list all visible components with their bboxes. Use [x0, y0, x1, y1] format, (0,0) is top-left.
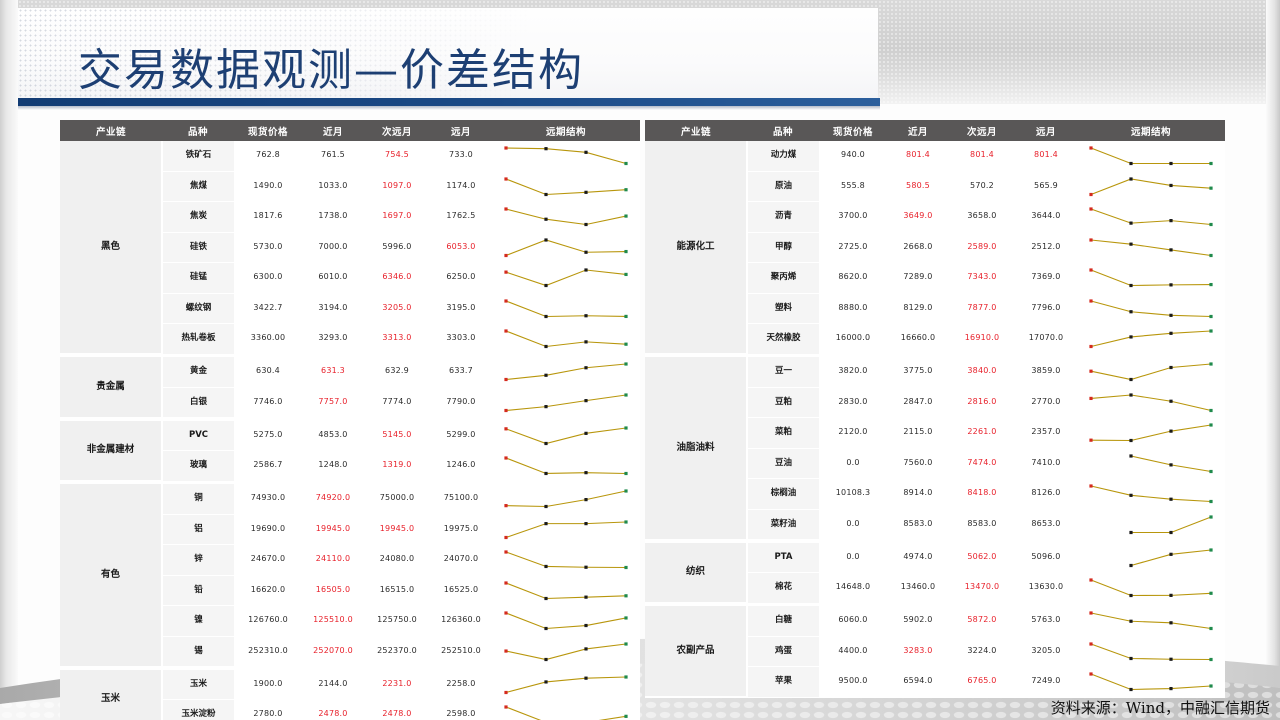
cell-mid-price: 2231.0 — [364, 670, 430, 700]
cell-far-price: 633.7 — [430, 357, 492, 387]
forward-curve-sparkline — [1077, 324, 1225, 355]
cell-spot-price: 0.0 — [819, 509, 887, 540]
cell-variety: 菜粕 — [747, 418, 819, 449]
table-row: 黑色铁矿石762.8761.5754.5733.0 — [60, 141, 640, 171]
forward-curve-sparkline — [492, 484, 640, 514]
cell-industry-chain: 能源化工 — [645, 141, 747, 354]
cell-spot-price: 16620.0 — [234, 575, 302, 606]
cell-mid-price: 5996.0 — [364, 232, 430, 263]
col-header-far[interactable]: 远月 — [1015, 120, 1077, 141]
cell-mid-price: 3205.0 — [364, 293, 430, 324]
cell-mid-price: 3840.0 — [949, 357, 1015, 387]
cell-spot-price: 555.8 — [819, 171, 887, 202]
cell-variety: 镍 — [162, 606, 234, 637]
cell-spot-price: 74930.0 — [234, 484, 302, 514]
cell-far-price: 3205.0 — [1015, 636, 1077, 667]
forward-curve-sparkline — [492, 202, 640, 233]
cell-variety: 苹果 — [747, 667, 819, 698]
cell-variety: 天然橡胶 — [747, 324, 819, 355]
cell-spot-price: 3820.0 — [819, 357, 887, 387]
cell-mid-price: 2816.0 — [949, 387, 1015, 418]
cell-variety: 玉米 — [162, 670, 234, 700]
cell-far-price: 3303.0 — [430, 324, 492, 355]
forward-curve-sparkline — [492, 141, 640, 171]
forward-curve-sparkline — [1077, 202, 1225, 233]
cell-mid-price: 13470.0 — [949, 573, 1015, 604]
cell-variety: 鸡蛋 — [747, 636, 819, 667]
cell-spot-price: 940.0 — [819, 141, 887, 171]
cell-mid-price: 801.4 — [949, 141, 1015, 171]
forward-curve-sparkline — [1077, 293, 1225, 324]
cell-industry-chain: 有色 — [60, 484, 162, 667]
cell-mid-price: 7774.0 — [364, 387, 430, 418]
cell-far-price: 1246.0 — [430, 451, 492, 482]
cell-near-price: 8129.0 — [887, 293, 949, 324]
cell-industry-chain: 玉米 — [60, 670, 162, 720]
cell-near-price: 631.3 — [302, 357, 364, 387]
cell-spot-price: 2725.0 — [819, 232, 887, 263]
cell-far-price: 126360.0 — [430, 606, 492, 637]
cell-variety: 豆油 — [747, 448, 819, 479]
cell-mid-price: 7343.0 — [949, 263, 1015, 294]
cell-far-price: 5299.0 — [430, 421, 492, 451]
cell-variety: PTA — [747, 543, 819, 573]
forward-curve-sparkline — [1077, 573, 1225, 604]
cell-mid-price: 16515.0 — [364, 575, 430, 606]
cell-mid-price: 7877.0 — [949, 293, 1015, 324]
table-row: 油脂油料豆一3820.03775.03840.03859.0 — [645, 357, 1225, 387]
cell-near-price: 1738.0 — [302, 202, 364, 233]
cell-variety: 螺纹钢 — [162, 293, 234, 324]
cell-mid-price: 632.9 — [364, 357, 430, 387]
cell-variety: 焦煤 — [162, 171, 234, 202]
col-header-spot[interactable]: 现货价格 — [234, 120, 302, 141]
cell-spot-price: 1817.6 — [234, 202, 302, 233]
cell-variety: 玉米淀粉 — [162, 700, 234, 720]
forward-curve-sparkline — [492, 421, 640, 451]
cell-variety: 沥青 — [747, 202, 819, 233]
cell-spot-price: 1900.0 — [234, 670, 302, 700]
cell-industry-chain: 非金属建材 — [60, 421, 162, 482]
cell-far-price: 24070.0 — [430, 545, 492, 576]
cell-spot-price: 0.0 — [819, 543, 887, 573]
cell-near-price: 1248.0 — [302, 451, 364, 482]
cell-spot-price: 16000.0 — [819, 324, 887, 355]
cell-spot-price: 630.4 — [234, 357, 302, 387]
table-right-body: 能源化工动力煤940.0801.4801.4801.4原油555.8580.55… — [645, 141, 1225, 697]
col-header-chain[interactable]: 产业链 — [60, 120, 162, 141]
cell-mid-price: 5872.0 — [949, 606, 1015, 636]
cell-variety: 铜 — [162, 484, 234, 514]
title-accent-shadow — [18, 106, 880, 110]
forward-curve-sparkline — [492, 545, 640, 576]
cell-mid-price: 2478.0 — [364, 700, 430, 720]
cell-mid-price: 6765.0 — [949, 667, 1015, 698]
cell-far-price: 1174.0 — [430, 171, 492, 202]
cell-far-price: 2357.0 — [1015, 418, 1077, 449]
cell-near-price: 6010.0 — [302, 263, 364, 294]
cell-mid-price: 2589.0 — [949, 232, 1015, 263]
cell-far-price: 8653.0 — [1015, 509, 1077, 540]
cell-spot-price: 4400.0 — [819, 636, 887, 667]
cell-near-price: 7000.0 — [302, 232, 364, 263]
col-header-mid[interactable]: 次远月 — [949, 120, 1015, 141]
cell-near-price: 252070.0 — [302, 636, 364, 667]
cell-variety: 铁矿石 — [162, 141, 234, 171]
table-right-head: 产业链 品种 现货价格 近月 次远月 远月 远期结构 — [645, 120, 1225, 141]
cell-far-price: 252510.0 — [430, 636, 492, 667]
cell-spot-price: 10108.3 — [819, 479, 887, 510]
forward-curve-sparkline — [492, 357, 640, 387]
forward-curve-sparkline — [492, 232, 640, 263]
price-structure-table-left: 产业链 品种 现货价格 近月 次远月 远月 远期结构 黑色铁矿石762.8761… — [60, 120, 640, 720]
cell-far-price: 7790.0 — [430, 387, 492, 418]
forward-curve-sparkline — [1077, 171, 1225, 202]
cell-variety: 热轧卷板 — [162, 324, 234, 355]
col-header-near[interactable]: 近月 — [887, 120, 949, 141]
cell-variety: 甲醇 — [747, 232, 819, 263]
cell-near-price: 3293.0 — [302, 324, 364, 355]
cell-variety: 锌 — [162, 545, 234, 576]
table-row: 农副产品白糖6060.05902.05872.05763.0 — [645, 606, 1225, 636]
cell-spot-price: 0.0 — [819, 448, 887, 479]
cell-variety: 豆一 — [747, 357, 819, 387]
cell-spot-price: 3360.00 — [234, 324, 302, 355]
forward-curve-sparkline — [1077, 636, 1225, 667]
table-row: 玉米玉米1900.02144.02231.02258.0 — [60, 670, 640, 700]
cell-variety: 硅锰 — [162, 263, 234, 294]
cell-industry-chain: 油脂油料 — [645, 357, 747, 540]
forward-curve-sparkline — [492, 263, 640, 294]
cell-near-price: 16505.0 — [302, 575, 364, 606]
cell-far-price: 1762.5 — [430, 202, 492, 233]
cell-near-price: 7560.0 — [887, 448, 949, 479]
price-structure-table-right: 产业链 品种 现货价格 近月 次远月 远月 远期结构 能源化工动力煤940.08… — [645, 120, 1220, 698]
cell-near-price: 16660.0 — [887, 324, 949, 355]
cell-spot-price: 252310.0 — [234, 636, 302, 667]
col-header-chain[interactable]: 产业链 — [645, 120, 747, 141]
cell-spot-price: 1490.0 — [234, 171, 302, 202]
cell-spot-price: 5730.0 — [234, 232, 302, 263]
cell-mid-price: 252370.0 — [364, 636, 430, 667]
col-header-mid[interactable]: 次远月 — [364, 120, 430, 141]
cell-near-price: 3194.0 — [302, 293, 364, 324]
cell-near-price: 6594.0 — [887, 667, 949, 698]
cell-spot-price: 3422.7 — [234, 293, 302, 324]
cell-far-price: 5096.0 — [1015, 543, 1077, 573]
cell-far-price: 19975.0 — [430, 514, 492, 545]
cell-variety: 硅铁 — [162, 232, 234, 263]
forward-curve-sparkline — [492, 606, 640, 637]
title-accent-bar — [18, 98, 880, 106]
cell-near-price: 580.5 — [887, 171, 949, 202]
cell-near-price: 2847.0 — [887, 387, 949, 418]
header-row: 产业链 品种 现货价格 近月 次远月 远月 远期结构 — [645, 120, 1225, 141]
col-header-near[interactable]: 近月 — [302, 120, 364, 141]
col-header-variety[interactable]: 品种 — [162, 120, 234, 141]
cell-far-price: 2598.0 — [430, 700, 492, 720]
table-row: 纺织PTA0.04974.05062.05096.0 — [645, 543, 1225, 573]
cell-near-price: 7289.0 — [887, 263, 949, 294]
cell-spot-price: 3700.0 — [819, 202, 887, 233]
cell-mid-price: 3658.0 — [949, 202, 1015, 233]
cell-near-price: 2144.0 — [302, 670, 364, 700]
cell-mid-price: 75000.0 — [364, 484, 430, 514]
cell-near-price: 3283.0 — [887, 636, 949, 667]
forward-curve-sparkline — [492, 636, 640, 667]
cell-near-price: 4974.0 — [887, 543, 949, 573]
cell-near-price: 8914.0 — [887, 479, 949, 510]
col-header-variety[interactable]: 品种 — [747, 120, 819, 141]
cell-spot-price: 8620.0 — [819, 263, 887, 294]
forward-curve-sparkline — [1077, 606, 1225, 636]
cell-spot-price: 5275.0 — [234, 421, 302, 451]
table-row: 非金属建材PVC5275.04853.05145.05299.0 — [60, 421, 640, 451]
forward-curve-sparkline — [1077, 387, 1225, 418]
cell-near-price: 74920.0 — [302, 484, 364, 514]
forward-curve-sparkline — [1077, 357, 1225, 387]
cell-mid-price: 8583.0 — [949, 509, 1015, 540]
cell-near-price: 3775.0 — [887, 357, 949, 387]
cell-far-price: 3859.0 — [1015, 357, 1077, 387]
cell-industry-chain: 农副产品 — [645, 606, 747, 697]
cell-variety: PVC — [162, 421, 234, 451]
cell-near-price: 2668.0 — [887, 232, 949, 263]
table-row: 贵金属黄金630.4631.3632.9633.7 — [60, 357, 640, 387]
table-row: 能源化工动力煤940.0801.4801.4801.4 — [645, 141, 1225, 171]
col-header-spot[interactable]: 现货价格 — [819, 120, 887, 141]
cell-spot-price: 126760.0 — [234, 606, 302, 637]
forward-curve-sparkline — [1077, 418, 1225, 449]
source-note: 资料来源：Wind，中融汇信期货 — [1051, 697, 1270, 718]
cell-mid-price: 5145.0 — [364, 421, 430, 451]
cell-spot-price: 2780.0 — [234, 700, 302, 720]
cell-far-price: 6053.0 — [430, 232, 492, 263]
cell-mid-price: 16910.0 — [949, 324, 1015, 355]
cell-industry-chain: 黑色 — [60, 141, 162, 354]
forward-curve-sparkline — [492, 575, 640, 606]
cell-near-price: 3649.0 — [887, 202, 949, 233]
cell-far-price: 2770.0 — [1015, 387, 1077, 418]
cell-near-price: 1033.0 — [302, 171, 364, 202]
table-left-body: 黑色铁矿石762.8761.5754.5733.0焦煤1490.01033.01… — [60, 141, 640, 720]
cell-far-price: 17070.0 — [1015, 324, 1077, 355]
cell-far-price: 565.9 — [1015, 171, 1077, 202]
cell-far-price: 733.0 — [430, 141, 492, 171]
left-edge-strip — [0, 0, 18, 720]
cell-variety: 白糖 — [747, 606, 819, 636]
cell-mid-price: 6346.0 — [364, 263, 430, 294]
table-left-head: 产业链 品种 现货价格 近月 次远月 远月 远期结构 — [60, 120, 640, 141]
cell-far-price: 5763.0 — [1015, 606, 1077, 636]
cell-far-price: 3644.0 — [1015, 202, 1077, 233]
cell-mid-price: 19945.0 — [364, 514, 430, 545]
cell-near-price: 125510.0 — [302, 606, 364, 637]
cell-variety: 菜籽油 — [747, 509, 819, 540]
cell-mid-price: 8418.0 — [949, 479, 1015, 510]
cell-variety: 锡 — [162, 636, 234, 667]
col-header-structure[interactable]: 远期结构 — [1077, 120, 1225, 141]
cell-variety: 聚丙烯 — [747, 263, 819, 294]
cell-spot-price: 7746.0 — [234, 387, 302, 418]
forward-curve-sparkline — [1077, 448, 1225, 479]
cell-spot-price: 19690.0 — [234, 514, 302, 545]
cell-variety: 塑料 — [747, 293, 819, 324]
cell-far-price: 6250.0 — [430, 263, 492, 294]
cell-near-price: 2478.0 — [302, 700, 364, 720]
forward-curve-sparkline — [1077, 232, 1225, 263]
cell-mid-price: 1697.0 — [364, 202, 430, 233]
right-edge-strip — [1266, 0, 1280, 720]
forward-curve-sparkline — [492, 670, 640, 700]
cell-far-price: 7410.0 — [1015, 448, 1077, 479]
forward-curve-sparkline — [492, 387, 640, 418]
cell-variety: 棕榈油 — [747, 479, 819, 510]
col-header-structure[interactable]: 远期结构 — [492, 120, 640, 141]
cell-spot-price: 8880.0 — [819, 293, 887, 324]
cell-mid-price: 1097.0 — [364, 171, 430, 202]
cell-spot-price: 14648.0 — [819, 573, 887, 604]
cell-spot-price: 9500.0 — [819, 667, 887, 698]
cell-variety: 白银 — [162, 387, 234, 418]
forward-curve-sparkline — [492, 171, 640, 202]
forward-curve-sparkline — [492, 700, 640, 720]
cell-far-price: 75100.0 — [430, 484, 492, 514]
cell-near-price: 24110.0 — [302, 545, 364, 576]
cell-far-price: 13630.0 — [1015, 573, 1077, 604]
cell-near-price: 4853.0 — [302, 421, 364, 451]
cell-spot-price: 6300.0 — [234, 263, 302, 294]
cell-variety: 黄金 — [162, 357, 234, 387]
cell-mid-price: 754.5 — [364, 141, 430, 171]
page-title: 交易数据观测—价差结构 — [78, 34, 584, 98]
cell-variety: 原油 — [747, 171, 819, 202]
table-row: 有色铜74930.074920.075000.075100.0 — [60, 484, 640, 514]
forward-curve-sparkline — [1077, 509, 1225, 540]
cell-mid-price: 3313.0 — [364, 324, 430, 355]
header-row: 产业链 品种 现货价格 近月 次远月 远月 远期结构 — [60, 120, 640, 141]
cell-mid-price: 570.2 — [949, 171, 1015, 202]
cell-mid-price: 1319.0 — [364, 451, 430, 482]
cell-near-price: 5902.0 — [887, 606, 949, 636]
cell-far-price: 801.4 — [1015, 141, 1077, 171]
cell-spot-price: 6060.0 — [819, 606, 887, 636]
col-header-far[interactable]: 远月 — [430, 120, 492, 141]
cell-variety: 铝 — [162, 514, 234, 545]
cell-industry-chain: 纺织 — [645, 543, 747, 604]
forward-curve-sparkline — [492, 451, 640, 482]
cell-variety: 豆粕 — [747, 387, 819, 418]
cell-variety: 动力煤 — [747, 141, 819, 171]
cell-variety: 玻璃 — [162, 451, 234, 482]
cell-near-price: 761.5 — [302, 141, 364, 171]
forward-curve-sparkline — [492, 514, 640, 545]
table-right: 产业链 品种 现货价格 近月 次远月 远月 远期结构 能源化工动力煤940.08… — [645, 120, 1225, 698]
cell-near-price: 7757.0 — [302, 387, 364, 418]
cell-mid-price: 2261.0 — [949, 418, 1015, 449]
cell-spot-price: 2586.7 — [234, 451, 302, 482]
forward-curve-sparkline — [492, 324, 640, 355]
cell-near-price: 8583.0 — [887, 509, 949, 540]
cell-mid-price: 5062.0 — [949, 543, 1015, 573]
cell-variety: 棉花 — [747, 573, 819, 604]
forward-curve-sparkline — [1077, 263, 1225, 294]
cell-near-price: 2115.0 — [887, 418, 949, 449]
cell-industry-chain: 贵金属 — [60, 357, 162, 418]
cell-spot-price: 762.8 — [234, 141, 302, 171]
forward-curve-sparkline — [1077, 667, 1225, 698]
forward-curve-sparkline — [492, 293, 640, 324]
cell-variety: 铅 — [162, 575, 234, 606]
table-left: 产业链 品种 现货价格 近月 次远月 远月 远期结构 黑色铁矿石762.8761… — [60, 120, 640, 720]
cell-far-price: 2258.0 — [430, 670, 492, 700]
cell-spot-price: 2120.0 — [819, 418, 887, 449]
forward-curve-sparkline — [1077, 479, 1225, 510]
cell-near-price: 801.4 — [887, 141, 949, 171]
forward-curve-sparkline — [1077, 543, 1225, 573]
cell-mid-price: 7474.0 — [949, 448, 1015, 479]
cell-far-price: 7796.0 — [1015, 293, 1077, 324]
cell-far-price: 8126.0 — [1015, 479, 1077, 510]
cell-spot-price: 2830.0 — [819, 387, 887, 418]
cell-spot-price: 24670.0 — [234, 545, 302, 576]
cell-near-price: 13460.0 — [887, 573, 949, 604]
cell-far-price: 7249.0 — [1015, 667, 1077, 698]
cell-far-price: 2512.0 — [1015, 232, 1077, 263]
cell-mid-price: 3224.0 — [949, 636, 1015, 667]
cell-far-price: 3195.0 — [430, 293, 492, 324]
cell-near-price: 19945.0 — [302, 514, 364, 545]
cell-far-price: 16525.0 — [430, 575, 492, 606]
forward-curve-sparkline — [1077, 141, 1225, 171]
cell-far-price: 7369.0 — [1015, 263, 1077, 294]
cell-variety: 焦炭 — [162, 202, 234, 233]
cell-mid-price: 125750.0 — [364, 606, 430, 637]
cell-mid-price: 24080.0 — [364, 545, 430, 576]
